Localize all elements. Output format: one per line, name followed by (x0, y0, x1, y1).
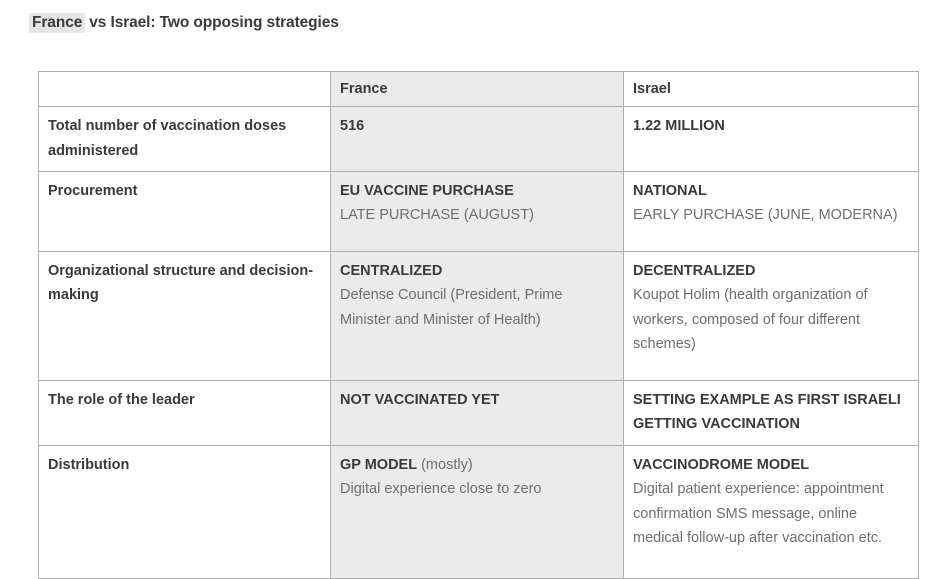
value-strong: CENTRALIZED (340, 259, 614, 283)
row-label-procurement: Procurement (48, 183, 137, 199)
value-strong: 1.22 MILLION (633, 114, 909, 138)
value-soft-inline: (mostly) (417, 457, 473, 473)
value-first-line: GP MODEL (mostly) (340, 453, 614, 477)
table-row: The role of the leader NOT VACCINATED YE… (39, 381, 919, 446)
value-strong: NATIONAL (633, 179, 909, 203)
cell-israel-distribution: VACCINODROME MODEL Digital patient exper… (624, 445, 919, 578)
value-strong: SETTING EXAMPLE AS FIRST ISRAELI GETTING… (633, 388, 909, 437)
cell-france-procurement: EU VACCINE PURCHASE LATE PURCHASE (AUGUS… (331, 172, 624, 252)
page-title: Francevs Israel: Two opposing strategies (29, 14, 339, 32)
row-label-cell: The role of the leader (39, 381, 331, 446)
cell-israel-procurement: NATIONAL EARLY PURCHASE (JUNE, MODERNA) (624, 172, 919, 252)
row-label-cell: Procurement (39, 172, 331, 252)
cell-france-organizational-structure: CENTRALIZED Defense Council (President, … (331, 252, 624, 381)
table-row: Organizational structure and decision-ma… (39, 252, 919, 381)
value-strong: NOT VACCINATED YET (340, 388, 614, 412)
row-label-cell: Organizational structure and decision-ma… (39, 252, 331, 381)
page-title-highlight: France (29, 13, 85, 33)
value-soft: Defense Council (President, Prime Minist… (340, 283, 614, 332)
cell-israel-role-of-leader: SETTING EXAMPLE AS FIRST ISRAELI GETTING… (624, 381, 919, 446)
cell-israel-organizational-structure: DECENTRALIZED Koupot Holim (health organ… (624, 252, 919, 381)
table-row: Distribution GP MODEL (mostly) Digital e… (39, 445, 919, 578)
row-label-distribution: Distribution (48, 457, 129, 473)
value-soft: Digital patient experience: appointment … (633, 477, 909, 550)
table-header-row: France Israel (39, 72, 919, 107)
value-soft: EARLY PURCHASE (JUNE, MODERNA) (633, 203, 909, 227)
value-strong: VACCINODROME MODEL (633, 453, 909, 477)
value-soft: Digital experience close to zero (340, 477, 614, 501)
header-label-israel: Israel (633, 81, 671, 97)
header-cell-blank (39, 72, 331, 107)
cell-france-role-of-leader: NOT VACCINATED YET (331, 381, 624, 446)
header-cell-france: France (331, 72, 624, 107)
value-strong: DECENTRALIZED (633, 259, 909, 283)
row-label-cell: Total number of vaccination doses admini… (39, 107, 331, 172)
page-title-rest: vs Israel: Two opposing strategies (85, 14, 339, 31)
header-cell-israel: Israel (624, 72, 919, 107)
row-label-cell: Distribution (39, 445, 331, 578)
cell-israel-doses: 1.22 MILLION (624, 107, 919, 172)
page-root: Francevs Israel: Two opposing strategies… (0, 0, 946, 549)
value-strong: EU VACCINE PURCHASE (340, 179, 614, 203)
value-soft: LATE PURCHASE (AUGUST) (340, 203, 614, 227)
table-row: Procurement EU VACCINE PURCHASE LATE PUR… (39, 172, 919, 252)
table-row: Total number of vaccination doses admini… (39, 107, 919, 172)
cell-france-doses: 516 (331, 107, 624, 172)
row-label-doses: Total number of vaccination doses admini… (48, 118, 286, 158)
comparison-table: France Israel Total number of vaccinatio… (38, 71, 919, 579)
comparison-table-wrapper: France Israel Total number of vaccinatio… (38, 71, 918, 579)
header-label-france: France (340, 81, 388, 97)
row-label-role-of-leader: The role of the leader (48, 392, 195, 408)
row-label-organizational-structure: Organizational structure and decision-ma… (48, 263, 313, 303)
value-strong: 516 (340, 114, 614, 138)
cell-france-distribution: GP MODEL (mostly) Digital experience clo… (331, 445, 624, 578)
value-soft: Koupot Holim (health organization of wor… (633, 283, 909, 356)
value-strong: GP MODEL (340, 457, 417, 473)
